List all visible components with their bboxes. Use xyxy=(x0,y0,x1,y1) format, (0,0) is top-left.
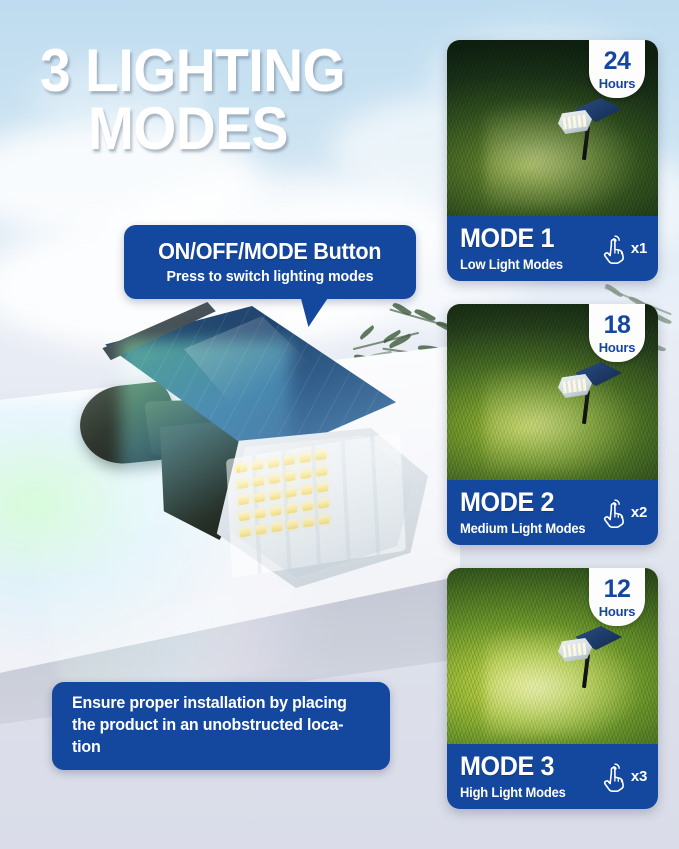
hours-badge: 12 Hours xyxy=(589,568,645,626)
press-indicator: x1 xyxy=(601,234,658,264)
hand-tap-icon xyxy=(601,762,629,792)
installation-note: Ensure proper installation by placing th… xyxy=(52,682,390,770)
mode-title: MODE 2 xyxy=(460,489,591,516)
mode-footer: MODE 3 High Light Modes x3 xyxy=(447,744,658,809)
headline-line-1: 3 LIGHTING xyxy=(40,37,345,104)
hours-badge: 18 Hours xyxy=(589,304,645,362)
hours-value: 24 xyxy=(604,49,631,74)
hours-badge: 24 Hours xyxy=(589,40,645,98)
hand-tap-icon xyxy=(601,234,629,264)
hours-unit: Hours xyxy=(599,77,636,90)
button-callout-subtitle: Press to switch lighting modes xyxy=(167,268,374,285)
mode-footer: MODE 2 Medium Light Modes x2 xyxy=(447,480,658,545)
press-indicator: x2 xyxy=(601,498,658,528)
press-count: x3 xyxy=(631,768,647,785)
hours-unit: Hours xyxy=(599,605,636,618)
mode-labels: MODE 3 High Light Modes xyxy=(447,753,601,800)
hours-value: 12 xyxy=(604,577,631,602)
callout-pointer-tail xyxy=(297,297,328,327)
mini-solar-light xyxy=(556,624,622,688)
mode-title: MODE 1 xyxy=(460,225,591,252)
page-title: 3 LIGHTING MODES xyxy=(40,42,390,158)
mode-title: MODE 3 xyxy=(460,753,591,780)
mode-card[interactable]: 24 Hours MODE 1 Low Light Modes x1 xyxy=(447,40,658,281)
mode-footer: MODE 1 Low Light Modes x1 xyxy=(447,216,658,281)
infographic-page: 3 LIGHTING MODES ON/OFF/MODE Button Pres… xyxy=(0,0,679,849)
hand-tap-icon xyxy=(601,498,629,528)
mode-subtitle: Medium Light Modes xyxy=(460,522,595,536)
mode-labels: MODE 2 Medium Light Modes xyxy=(447,489,601,536)
installation-note-text: Ensure proper installation by placing th… xyxy=(72,693,361,759)
hours-value: 18 xyxy=(604,313,631,338)
hours-unit: Hours xyxy=(599,341,636,354)
headline-line-2: MODES xyxy=(88,100,390,158)
mode-card[interactable]: 12 Hours MODE 3 High Light Modes x3 xyxy=(447,568,658,809)
mode-card[interactable]: 18 Hours MODE 2 Medium Light Modes x2 xyxy=(447,304,658,545)
mode-subtitle: Low Light Modes xyxy=(460,258,595,272)
mini-solar-light xyxy=(556,360,622,424)
mode-subtitle: High Light Modes xyxy=(460,786,595,800)
press-count: x2 xyxy=(631,504,647,521)
mode-labels: MODE 1 Low Light Modes xyxy=(447,225,601,272)
mini-solar-light xyxy=(556,96,622,160)
product-photo xyxy=(52,300,432,630)
press-count: x1 xyxy=(631,240,647,257)
button-callout: ON/OFF/MODE Button Press to switch light… xyxy=(124,225,416,299)
press-indicator: x3 xyxy=(601,762,658,792)
button-callout-title: ON/OFF/MODE Button xyxy=(158,239,381,263)
